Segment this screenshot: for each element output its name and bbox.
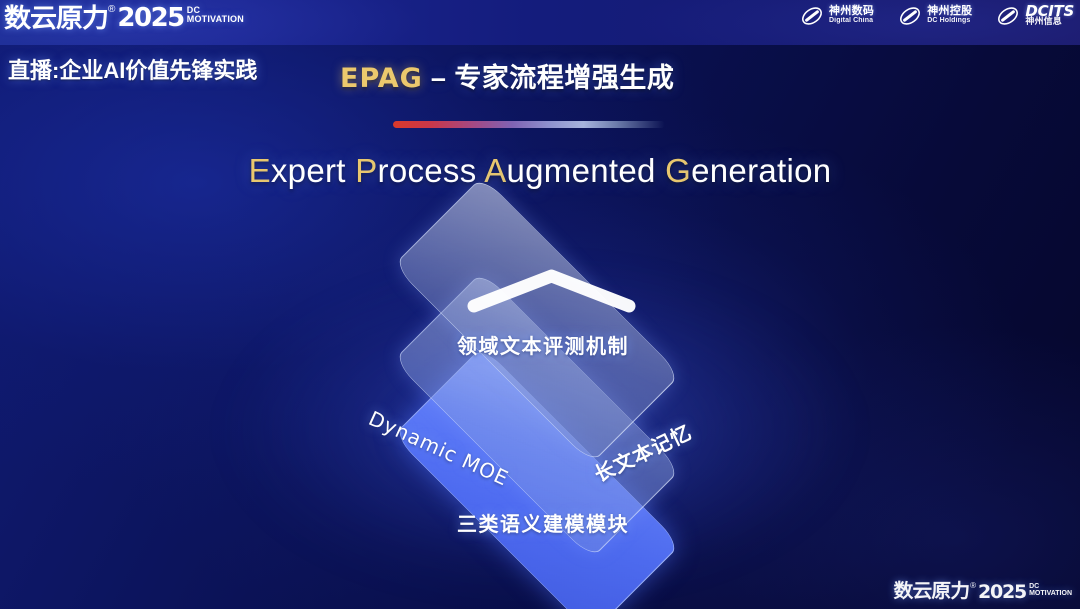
brand-logo: 数云原力 ® 2025 DC MOTIVATION — [6, 3, 244, 33]
partner-logo-dc-holdings: 神州控股 DC Holdings — [898, 4, 972, 28]
watermark-logo: 数云原力 ® 2025 DC MOTIVATION — [895, 581, 1072, 603]
chevron-up-icon — [464, 268, 639, 313]
subtitle-word-expert: Expert — [249, 152, 346, 189]
brand-subtitle: DC MOTIVATION — [187, 6, 244, 24]
layer-bottom-label: 三类语义建模模块 — [448, 508, 638, 537]
partner-label: DCITS 神州信息 — [1025, 6, 1074, 26]
live-stream-title: 直播:企业AI价值先锋实践 — [8, 53, 257, 85]
subtitle-cap-p: P — [355, 152, 377, 189]
diagram-layer-top[interactable] — [402, 185, 672, 455]
subtitle-rest-augmented: ugmented — [507, 152, 656, 189]
watermark-year: 2025 — [978, 581, 1026, 603]
swirl-logo-icon — [996, 4, 1020, 28]
brand-sub-line2: MOTIVATION — [187, 15, 244, 24]
subtitle-rest-generation: eneration — [691, 152, 831, 189]
layer-top-label: 领域文本评测机制 — [448, 330, 638, 359]
watermark-registered-mark: ® — [970, 581, 976, 591]
partner-name-cn: 神州控股 — [927, 6, 972, 16]
watermark-name-cn: 数云原力 — [894, 581, 970, 603]
subtitle-word-augmented: Augmented — [484, 152, 656, 189]
title-chinese: 专家流程增强生成 — [454, 63, 674, 93]
partner-label: 神州控股 DC Holdings — [927, 6, 972, 26]
partner-logo-group: 神州数码 Digital China 神州控股 DC Holdings — [800, 4, 1074, 28]
partner-name-cn: DCITS — [1025, 6, 1074, 16]
watermark-subtitle: DC MOTIVATION — [1029, 583, 1072, 597]
layered-architecture-diagram: 三类语义建模模块 Dynamic MOE 长文本记忆 领域文本评测机制 — [50, 210, 1030, 600]
subtitle-cap-a: A — [484, 152, 506, 189]
watermark-sub-line2: MOTIVATION — [1029, 590, 1072, 597]
swirl-logo-icon — [898, 4, 922, 28]
brand-registered-mark: ® — [108, 3, 115, 17]
title-separator: – — [423, 63, 455, 93]
gradient-divider — [393, 121, 665, 128]
subtitle-cap-g: G — [665, 152, 691, 189]
subtitle-rest-process: rocess — [378, 152, 477, 189]
title-acronym: EPAG — [340, 63, 423, 94]
partner-name-cn: 神州数码 — [829, 6, 874, 16]
brand-year: 2025 — [117, 3, 183, 33]
header-bar: 数云原力 ® 2025 DC MOTIVATION 神州数码 Digital C… — [0, 0, 1080, 45]
partner-logo-dcits: DCITS 神州信息 — [996, 4, 1074, 28]
partner-label: 神州数码 Digital China — [829, 6, 874, 26]
partner-name-en: Digital China — [829, 16, 874, 26]
partner-logo-digital-china: 神州数码 Digital China — [800, 4, 874, 28]
watermark-sub-line1: DC — [1029, 583, 1072, 590]
partner-name-en: DC Holdings — [927, 16, 972, 26]
subtitle-word-process: Process — [355, 152, 476, 189]
subtitle-cap-e: E — [249, 152, 271, 189]
slide-canvas: 数云原力 ® 2025 DC MOTIVATION 神州数码 Digital C… — [0, 0, 1080, 609]
subtitle-rest-expert: xpert — [271, 152, 346, 189]
page-title: EPAG – 专家流程增强生成 — [340, 56, 674, 95]
brand-name-cn: 数云原力 — [4, 3, 108, 33]
partner-name-en: 神州信息 — [1025, 16, 1074, 26]
swirl-logo-icon — [800, 4, 824, 28]
subtitle-word-generation: Generation — [665, 152, 831, 189]
layer-top-plate — [393, 176, 681, 464]
